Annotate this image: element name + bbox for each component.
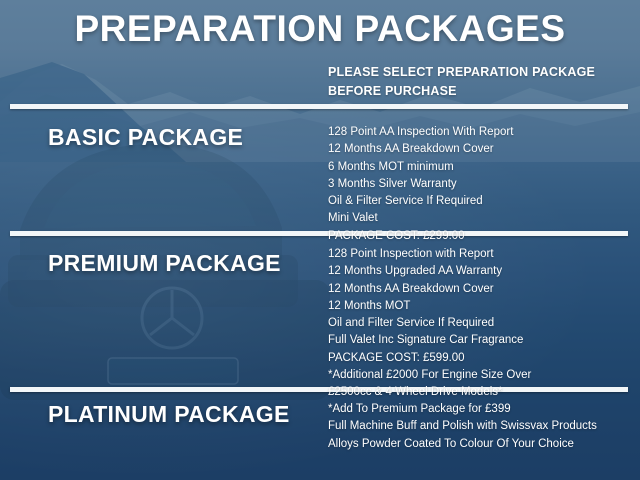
package-cost-basic: PACKAGE COST: £299.00 [328, 228, 633, 245]
feature-item: Full Machine Buff and Polish with Swissv… [328, 418, 633, 435]
feature-item: 12 Months MOT [328, 298, 633, 315]
feature-item: Oil & Filter Service If Required [328, 193, 633, 210]
feature-item: 12 Months Upgraded AA Warranty [328, 263, 633, 280]
feature-item: 128 Point Inspection with Report [328, 246, 633, 263]
feature-item: 12 Months AA Breakdown Cover [328, 141, 633, 158]
feature-item: 128 Point AA Inspection With Report [328, 124, 633, 141]
feature-item: 12 Months AA Breakdown Cover [328, 281, 633, 298]
package-title-premium: PREMIUM PACKAGE [48, 250, 281, 277]
package-cost-premium: PACKAGE COST: £599.00 [328, 350, 633, 367]
surcharge-note-line-2: £2500cc & 4 Wheel Drive Models* [328, 384, 633, 401]
divider-above-basic [10, 104, 628, 109]
preparation-packages-poster: PREPARATION PACKAGES PLEASE SELECT PREPA… [0, 0, 640, 480]
instruction-line-2: BEFORE PURCHASE [328, 82, 628, 101]
surcharge-note-line-1: *Additional £2000 For Engine Size Over [328, 367, 633, 384]
feature-item: Full Valet Inc Signature Car Fragrance [328, 332, 633, 349]
feature-item: Alloys Powder Coated To Colour Of Your C… [328, 436, 633, 453]
package-cost-platinum: *Add To Premium Package for £399 [328, 401, 633, 418]
package-title-platinum: PLATINUM PACKAGE [48, 401, 290, 428]
instruction-line-1: PLEASE SELECT PREPARATION PACKAGE [328, 63, 628, 82]
package-features-basic: 128 Point AA Inspection With Report 12 M… [328, 124, 633, 245]
feature-item: Oil and Filter Service If Required [328, 315, 633, 332]
feature-item: Mini Valet [328, 210, 633, 227]
feature-item: 3 Months Silver Warranty [328, 176, 633, 193]
selection-instruction: PLEASE SELECT PREPARATION PACKAGE BEFORE… [328, 63, 628, 101]
page-title: PREPARATION PACKAGES [0, 8, 640, 50]
feature-item: 6 Months MOT minimum [328, 159, 633, 176]
package-features-premium: 128 Point Inspection with Report 12 Mont… [328, 246, 633, 402]
package-title-basic: BASIC PACKAGE [48, 124, 243, 151]
package-features-platinum: *Add To Premium Package for £399 Full Ma… [328, 401, 633, 453]
